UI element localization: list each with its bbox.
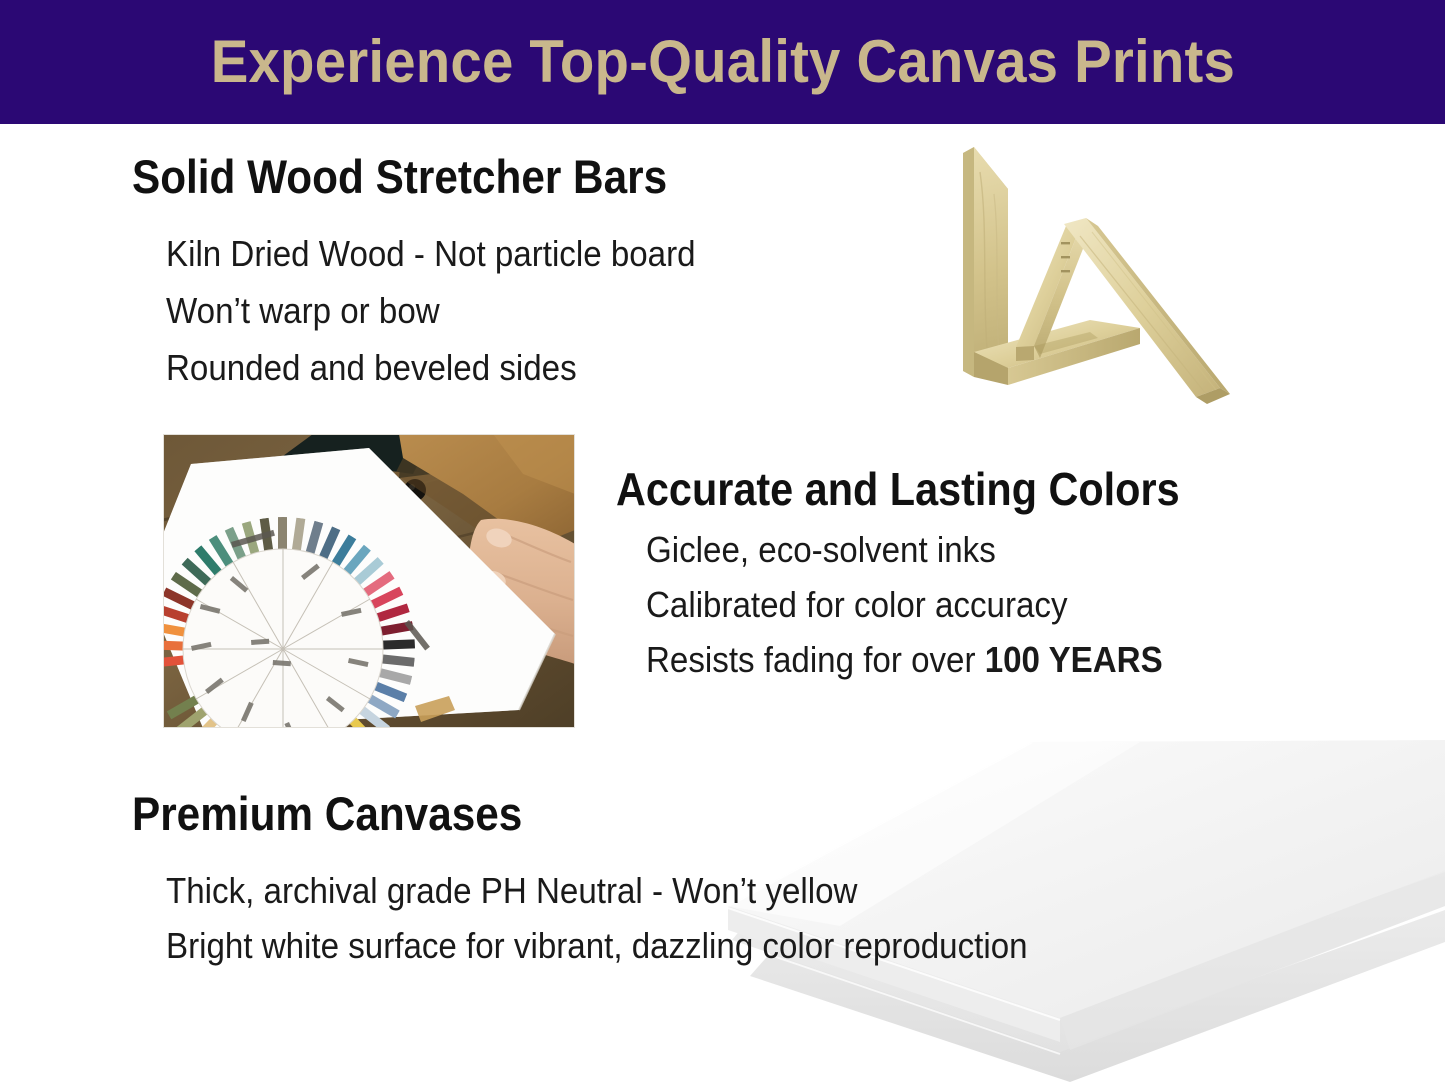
page-title: Experience Top-Quality Canvas Prints xyxy=(210,32,1234,92)
color-wheel-chart-photo xyxy=(163,434,575,728)
bullet-kiln-dried-wood: Kiln Dried Wood - Not particle board xyxy=(166,235,696,273)
infographic-page: Experience Top-Quality Canvas Prints Sol… xyxy=(0,0,1445,1084)
heading-premium-canvases: Premium Canvases xyxy=(132,789,522,838)
bullet-archival-ph-neutral: Thick, archival grade PH Neutral - Won’t… xyxy=(166,872,857,910)
bullet-bright-white-surface: Bright white surface for vibrant, dazzli… xyxy=(166,927,1028,965)
bullet-calibrated-accuracy: Calibrated for color accuracy xyxy=(646,586,1068,624)
bullet-wont-warp: Won’t warp or bow xyxy=(166,292,440,330)
bullet-giclee-inks: Giclee, eco-solvent inks xyxy=(646,531,996,569)
heading-solid-wood-stretcher-bars: Solid Wood Stretcher Bars xyxy=(132,152,667,201)
heading-accurate-lasting-colors: Accurate and Lasting Colors xyxy=(616,465,1180,513)
header-banner: Experience Top-Quality Canvas Prints xyxy=(0,0,1445,124)
bullet-resists-fading: Resists fading for over 100 YEARS xyxy=(646,641,1163,679)
wood-stretcher-bars-photo xyxy=(930,132,1240,407)
bullet-rounded-beveled: Rounded and beveled sides xyxy=(166,349,577,387)
resists-fading-emphasis: 100 YEARS xyxy=(985,639,1163,680)
resists-fading-prefix: Resists fading for over xyxy=(646,639,985,680)
